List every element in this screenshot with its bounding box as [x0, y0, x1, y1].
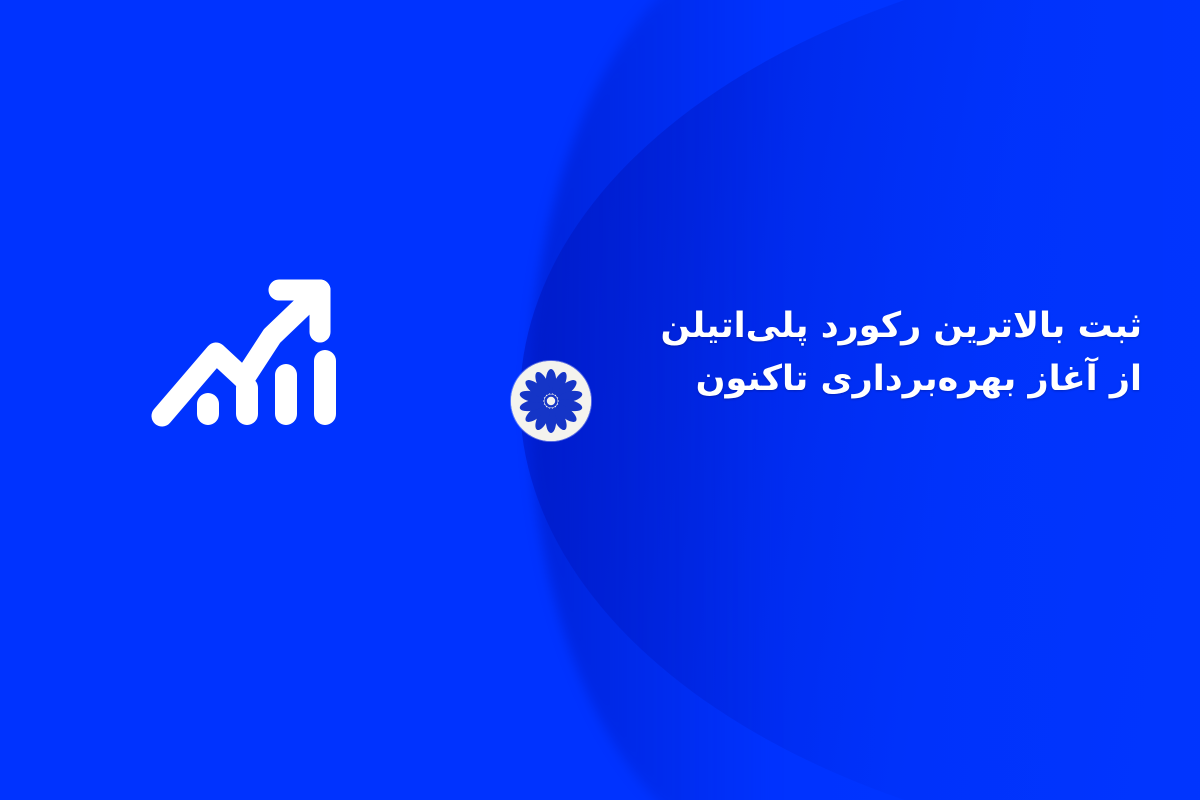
bar-4	[314, 350, 336, 425]
growth-chart-arrow-logo	[148, 276, 358, 432]
daisy-flower-emblem	[511, 361, 591, 441]
bar-3	[275, 364, 297, 425]
headline: ثبت بالاترین رکورد پلی‌اتیلن از آغاز بهر…	[672, 300, 1142, 406]
headline-line-2: از آغاز بهره‌برداری تاکنون	[672, 353, 1142, 406]
bar-1	[197, 393, 219, 425]
banner-root: ثبت بالاترین رکورد پلی‌اتیلن از آغاز بهر…	[0, 0, 1200, 800]
bar-2	[236, 377, 258, 425]
flower-center-dot	[547, 397, 555, 405]
headline-line-1: ثبت بالاترین رکورد پلی‌اتیلن	[672, 300, 1142, 353]
